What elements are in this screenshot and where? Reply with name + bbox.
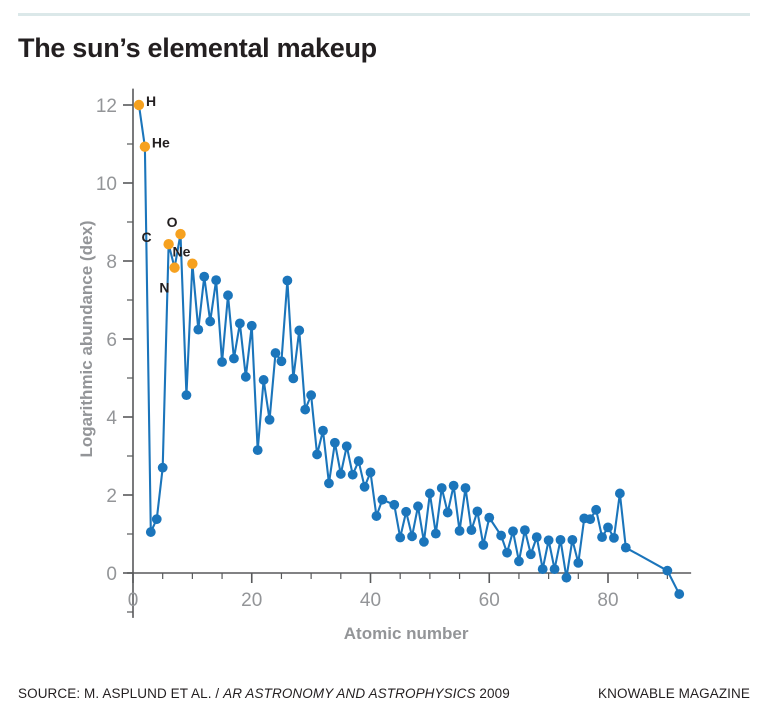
data-point (431, 529, 441, 539)
y-axis-title: Logarithmic abundance (dex) (77, 220, 96, 457)
data-point-highlighted (187, 259, 197, 269)
data-point (425, 489, 435, 499)
data-point (461, 483, 471, 493)
data-point (395, 533, 405, 543)
data-point (306, 390, 316, 400)
y-tick-label: 0 (106, 564, 117, 585)
point-label-h: H (146, 93, 156, 109)
data-point (544, 535, 554, 545)
x-tick-label: 80 (597, 590, 618, 611)
data-point (674, 589, 684, 599)
y-tick-label: 12 (96, 96, 117, 117)
data-point (484, 513, 494, 523)
data-point (526, 549, 536, 559)
point-label-n: N (159, 280, 169, 296)
point-label-o: O (167, 214, 178, 230)
y-tick-label: 10 (96, 174, 117, 195)
data-point (348, 470, 358, 480)
data-point (377, 495, 387, 505)
data-point (288, 373, 298, 383)
data-point (324, 478, 334, 488)
data-point (217, 357, 227, 367)
data-point (354, 456, 364, 466)
data-point (360, 482, 370, 492)
y-tick-label: 6 (106, 330, 117, 351)
data-point (312, 450, 322, 460)
data-point (621, 543, 631, 553)
data-point (556, 535, 566, 545)
point-label-he: He (152, 135, 170, 151)
data-point (265, 415, 275, 425)
data-point (413, 501, 423, 511)
data-point (615, 489, 625, 499)
x-tick-label: 0 (128, 590, 139, 611)
data-point (223, 290, 233, 300)
data-point (247, 321, 257, 331)
data-point (573, 558, 583, 568)
data-point (538, 564, 548, 574)
data-point (401, 507, 411, 517)
data-point (318, 426, 328, 436)
data-point (609, 533, 619, 543)
data-point (182, 390, 192, 400)
publisher-credit: KNOWABLE MAGAZINE (598, 686, 750, 701)
data-point (158, 463, 168, 473)
data-point (336, 469, 346, 479)
point-label-c: C (142, 229, 152, 245)
x-tick-label: 20 (241, 590, 262, 611)
abundance-line-chart: 024681012020406080 Atomic numberLogarith… (0, 0, 768, 680)
y-tick-label: 4 (106, 408, 117, 429)
data-point (562, 573, 572, 583)
data-point (591, 505, 601, 515)
data-point (478, 540, 488, 550)
abundance-series-line (139, 105, 679, 594)
data-point-highlighted (175, 229, 185, 239)
data-point (271, 348, 281, 358)
data-point (205, 317, 215, 327)
data-point (389, 500, 399, 510)
data-point (235, 319, 245, 329)
data-point (550, 564, 560, 574)
data-point (508, 526, 518, 536)
data-point (455, 526, 465, 536)
data-point (342, 441, 352, 451)
data-point (532, 532, 542, 542)
data-point (372, 511, 382, 521)
data-point (211, 275, 221, 285)
data-point-highlighted (169, 262, 179, 272)
data-point (449, 481, 459, 491)
data-point (567, 535, 577, 545)
data-point (437, 483, 447, 493)
point-label-ne: Ne (172, 244, 190, 260)
data-point (366, 467, 376, 477)
source-credit: SOURCE: M. ASPLUND ET AL. / AR ASTRONOMY… (18, 686, 510, 701)
x-axis-title: Atomic number (344, 624, 469, 643)
data-point (146, 527, 156, 537)
data-point (496, 531, 506, 541)
data-point-highlighted (134, 100, 144, 110)
data-point (597, 532, 607, 542)
data-point (253, 445, 263, 455)
data-point (152, 514, 162, 524)
data-point (407, 531, 417, 541)
data-point (419, 537, 429, 547)
data-point (229, 354, 239, 364)
data-point (443, 508, 453, 518)
y-tick-label: 8 (106, 252, 117, 273)
data-point (585, 514, 595, 524)
data-point (300, 405, 310, 415)
source-prefix: SOURCE: M. ASPLUND ET AL. / (18, 686, 223, 701)
data-point (520, 525, 530, 535)
source-journal: AR ASTRONOMY AND ASTROPHYSICS (223, 686, 475, 701)
source-year: 2009 (476, 686, 510, 701)
data-point (502, 548, 512, 558)
point-annotations-group: HHeCNONe (142, 93, 191, 296)
data-point (259, 375, 269, 385)
data-point (514, 556, 524, 566)
data-point (330, 438, 340, 448)
data-point (193, 325, 203, 335)
chart-canvas: 024681012020406080 Atomic numberLogarith… (0, 0, 768, 680)
data-point (277, 356, 287, 366)
data-point (472, 506, 482, 516)
data-point (603, 522, 613, 532)
x-tick-label: 60 (479, 590, 500, 611)
y-tick-label: 2 (106, 486, 117, 507)
data-point (294, 326, 304, 336)
data-point (467, 525, 477, 535)
x-tick-label: 40 (360, 590, 381, 611)
data-point (199, 272, 209, 282)
data-line-group (139, 105, 679, 594)
data-point (282, 276, 292, 286)
axis-titles-group: Atomic numberLogarithmic abundance (dex) (77, 220, 469, 643)
data-point-highlighted (140, 142, 150, 152)
data-point (241, 372, 251, 382)
data-point (662, 566, 672, 576)
